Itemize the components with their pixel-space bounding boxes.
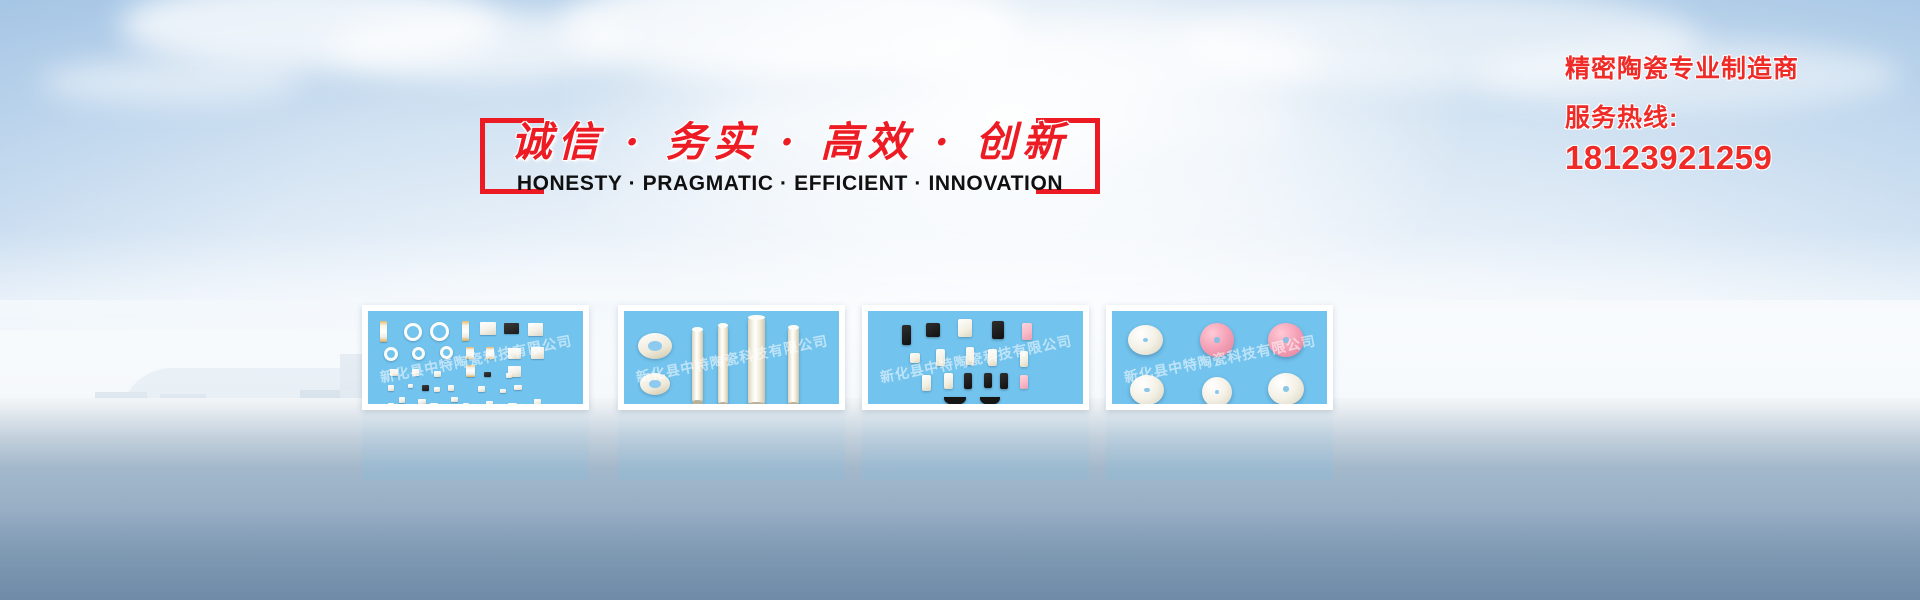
company-tagline: 精密陶瓷专业制造商	[1565, 52, 1905, 86]
product-panel-ceramic-blocks[interactable]: 新化县中特陶瓷科技有限公司	[862, 305, 1089, 410]
contact-block: 精密陶瓷专业制造商 服务热线: 18123921259	[1565, 52, 1905, 178]
ground-shadow	[0, 510, 1920, 600]
panel-image-area: 新化县中特陶瓷科技有限公司	[1112, 311, 1327, 404]
promo-banner: 诚信 · 务实 · 高效 · 创新 HONESTY · PRAGMATIC · …	[0, 0, 1920, 600]
product-panel-smd-components[interactable]: 新化县中特陶瓷科技有限公司	[362, 305, 589, 410]
cloud-shape	[40, 60, 300, 104]
hotline-label: 服务热线:	[1565, 102, 1905, 134]
slogan-block: 诚信 · 务实 · 高效 · 创新 HONESTY · PRAGMATIC · …	[480, 110, 1100, 230]
panel-image-area: 新化县中特陶瓷科技有限公司	[624, 311, 839, 404]
panel-image-area: 新化县中特陶瓷科技有限公司	[868, 311, 1083, 404]
slogan-english: HONESTY · PRAGMATIC · EFFICIENT · INNOVA…	[480, 172, 1100, 196]
product-panel-ceramic-tubes[interactable]: 新化县中特陶瓷科技有限公司	[618, 305, 845, 410]
hotline-number[interactable]: 18123921259	[1565, 138, 1905, 178]
product-panel-strip: 新化县中特陶瓷科技有限公司 新化县中特陶瓷科技有限公司	[362, 305, 1562, 410]
product-panel-ceramic-discs[interactable]: 新化县中特陶瓷科技有限公司	[1106, 305, 1333, 410]
panel-image-area: 新化县中特陶瓷科技有限公司	[368, 311, 583, 404]
slogan-chinese: 诚信 · 务实 · 高效 · 创新	[480, 108, 1100, 168]
